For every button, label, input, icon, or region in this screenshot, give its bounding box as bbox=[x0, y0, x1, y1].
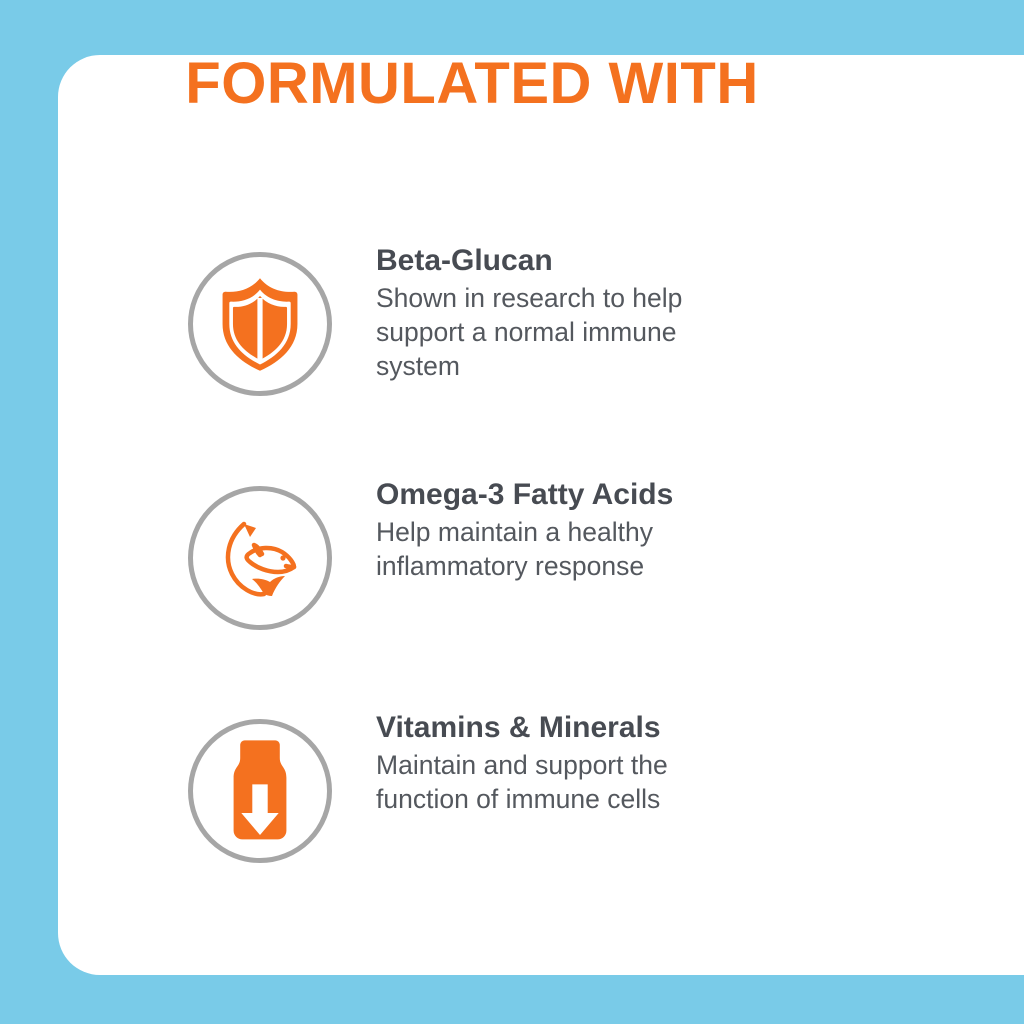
feature-text-block: Vitamins & Minerals Maintain and support… bbox=[376, 707, 736, 816]
supplement-bottle-icon bbox=[212, 736, 308, 846]
feature-item-beta-glucan: Beta-Glucan Shown in research to help su… bbox=[188, 240, 888, 400]
feature-text-block: Beta-Glucan Shown in research to help su… bbox=[376, 240, 716, 384]
fish-icon-circle bbox=[188, 486, 332, 630]
fish-icon bbox=[210, 508, 310, 608]
shield-icon bbox=[208, 272, 312, 376]
feature-title: Vitamins & Minerals bbox=[376, 711, 736, 746]
page-title: FORMULATED WITH bbox=[172, 55, 772, 113]
feature-description: Shown in research to help support a norm… bbox=[376, 281, 716, 384]
feature-item-omega-3: Omega-3 Fatty Acids Help maintain a heal… bbox=[188, 474, 888, 634]
feature-title: Beta-Glucan bbox=[376, 244, 716, 279]
feature-description: Maintain and support the function of imm… bbox=[376, 748, 736, 817]
feature-title: Omega-3 Fatty Acids bbox=[376, 478, 736, 513]
shield-icon-circle bbox=[188, 252, 332, 396]
feature-item-vitamins-minerals: Vitamins & Minerals Maintain and support… bbox=[188, 707, 888, 867]
supplement-bottle-icon-circle bbox=[188, 719, 332, 863]
feature-text-block: Omega-3 Fatty Acids Help maintain a heal… bbox=[376, 474, 736, 583]
feature-description: Help maintain a healthy inflammatory res… bbox=[376, 515, 736, 584]
